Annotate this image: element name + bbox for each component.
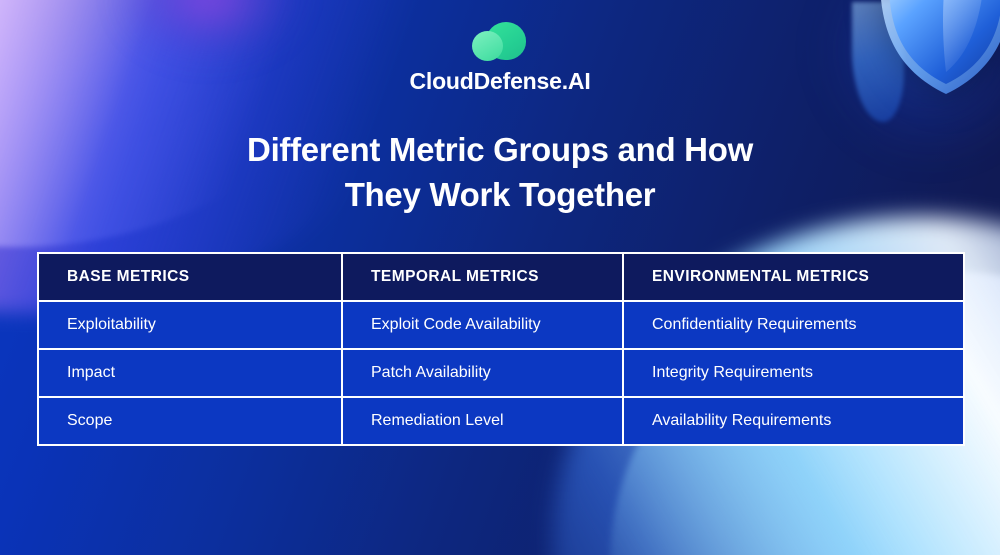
- cell-base-metric: Scope: [38, 397, 342, 445]
- cloud-blob-icon: [472, 22, 528, 62]
- cell-environmental-metric: Integrity Requirements: [623, 349, 964, 397]
- table-row: Scope Remediation Level Availability Req…: [38, 397, 964, 445]
- metric-groups-table: BASE METRICS TEMPORAL METRICS ENVIRONMEN…: [37, 252, 965, 446]
- cell-temporal-metric: Patch Availability: [342, 349, 623, 397]
- cell-environmental-metric: Confidentiality Requirements: [623, 301, 964, 349]
- cell-base-metric: Impact: [38, 349, 342, 397]
- brand-logo[interactable]: CloudDefense.AI: [0, 22, 1000, 95]
- column-header-base-metrics: BASE METRICS: [38, 253, 342, 301]
- slide-canvas: CloudDefense.AI Different Metric Groups …: [0, 0, 1000, 555]
- cell-environmental-metric: Availability Requirements: [623, 397, 964, 445]
- column-header-temporal-metrics: TEMPORAL METRICS: [342, 253, 623, 301]
- cell-temporal-metric: Exploit Code Availability: [342, 301, 623, 349]
- column-header-environmental-metrics: ENVIRONMENTAL METRICS: [623, 253, 964, 301]
- brand-name: CloudDefense.AI: [0, 68, 1000, 95]
- table-row: Impact Patch Availability Integrity Requ…: [38, 349, 964, 397]
- cell-base-metric: Exploitability: [38, 301, 342, 349]
- cell-temporal-metric: Remediation Level: [342, 397, 623, 445]
- page-title-line-2: They Work Together: [0, 173, 1000, 218]
- table-header-row: BASE METRICS TEMPORAL METRICS ENVIRONMEN…: [38, 253, 964, 301]
- page-title: Different Metric Groups and How They Wor…: [0, 128, 1000, 218]
- cloud-blob-front: [472, 31, 503, 61]
- page-title-line-1: Different Metric Groups and How: [0, 128, 1000, 173]
- table-row: Exploitability Exploit Code Availability…: [38, 301, 964, 349]
